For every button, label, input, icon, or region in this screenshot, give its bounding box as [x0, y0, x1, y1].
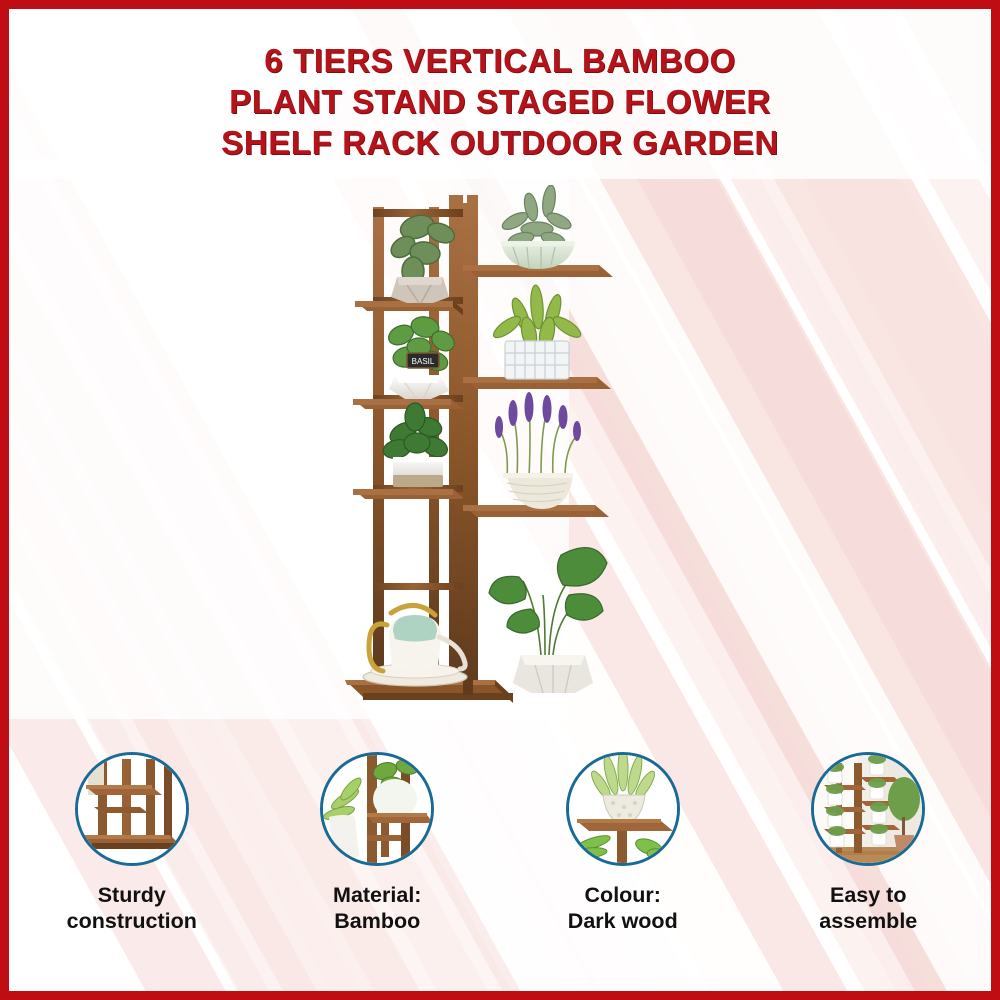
sturdy-construction-label: Sturdy construction	[67, 882, 197, 934]
page-title: 6 TIERS VERTICAL BAMBOO PLANT STAND STAG…	[0, 40, 1000, 163]
feature-label-line-1: Sturdy	[67, 882, 197, 908]
feature-label-line-2: Dark wood	[568, 908, 678, 934]
feature-label-line-1: Easy to	[819, 882, 917, 908]
sturdy-construction-icon	[75, 752, 189, 866]
title-line-2: PLANT STAND STAGED FLOWER	[0, 81, 1000, 122]
feature-easy-to-assemble: Easy to assemble	[746, 752, 992, 967]
feature-material-bamboo: Material: Bamboo	[255, 752, 501, 967]
material-bamboo-label: Material: Bamboo	[333, 882, 421, 934]
feature-label-line-2: construction	[67, 908, 197, 934]
title-line-1: 6 TIERS VERTICAL BAMBOO	[0, 40, 1000, 81]
plant-tag-label: BASIL	[412, 357, 435, 366]
feature-label-line-1: Colour:	[568, 882, 678, 908]
product-image: BASIL	[345, 185, 635, 730]
dark-wood-label: Colour: Dark wood	[568, 882, 678, 934]
product-banner: 6 TIERS VERTICAL BAMBOO PLANT STAND STAG…	[0, 0, 1000, 1000]
feature-label-line-2: assemble	[819, 908, 917, 934]
easy-to-assemble-label: Easy to assemble	[819, 882, 917, 934]
material-bamboo-icon	[320, 752, 434, 866]
feature-colour-dark-wood: Colour: Dark wood	[500, 752, 746, 967]
dark-wood-icon	[566, 752, 680, 866]
easy-to-assemble-icon	[811, 752, 925, 866]
feature-label-line-2: Bamboo	[333, 908, 421, 934]
feature-sturdy-construction: Sturdy construction	[9, 752, 255, 967]
title-line-3: SHELF RACK OUTDOOR GARDEN	[0, 122, 1000, 163]
feature-label-line-1: Material:	[333, 882, 421, 908]
feature-row: Sturdy construction	[9, 752, 991, 967]
